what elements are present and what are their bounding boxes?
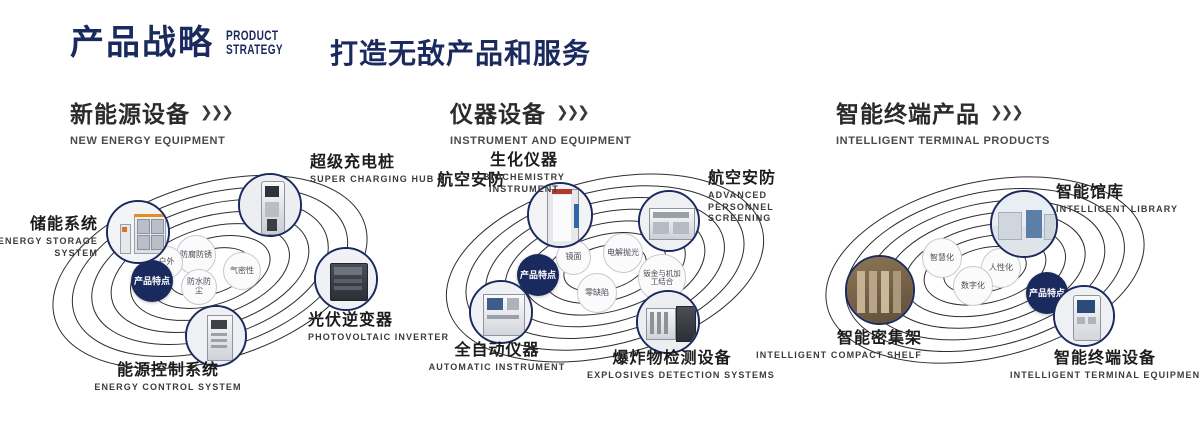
feature-bubble: 气密性 (223, 252, 261, 290)
diagram-group-instrument: 镜面 电解抛光 钣金与机加工结合 零缺陷 产品特点 航空安防 生化仪器 BIOC… (425, 150, 815, 410)
label-energy-control-system: 能源控制系统 ENERGY CONTROL SYSTEM (78, 362, 258, 394)
feature-bubble: 数字化 (953, 266, 993, 306)
label-energy-storage-system: 储能系统 ENERGY STORAGE SYSTEM (0, 216, 98, 259)
node-intelligent-library[interactable] (990, 190, 1058, 258)
label-advanced-personnel-screening: 航空安防 ADVANCED PERSONNEL SCREENING (708, 170, 818, 224)
page-title: 产品战略 PRODUCT STRATEGY (70, 26, 305, 60)
feature-bubble: 智慧化 (922, 238, 962, 278)
chevron-right-icon: ❯❯❯ (200, 105, 232, 120)
page-title-en: PRODUCT STRATEGY (226, 29, 283, 56)
feature-bubble: 电解抛光 (603, 233, 643, 273)
feature-bubble: 零缺陷 (577, 273, 617, 313)
node-intelligent-compact-shelf[interactable] (845, 255, 915, 325)
section-title-cn: 新能源设备 (70, 95, 190, 129)
node-explosives-detection-systems[interactable] (636, 290, 700, 354)
section-header-new-energy: 新能源设备 ❯❯❯ NEW ENERGY EQUIPMENT (70, 95, 232, 147)
chevron-right-icon: ❯❯❯ (990, 105, 1022, 120)
page-subtitle: 打造无敌产品和服务 (330, 32, 591, 72)
node-advanced-personnel-screening[interactable] (638, 190, 700, 252)
label-biochemistry-instrument: 生化仪器 BIOCHEMISTRY INSTRUMENT (449, 152, 599, 195)
label-intelligent-compact-shelf: 智能密集架 INTELLIGENT COMPACT SHELF (732, 330, 922, 362)
node-intelligent-terminal-equipment[interactable] (1053, 285, 1115, 347)
feature-bubble: 防水防尘 (181, 269, 217, 305)
node-energy-storage-system[interactable] (106, 200, 170, 264)
section-title-en: INTELLIGENT TERMINAL PRODUCTS (836, 135, 1050, 147)
diagram-group-intelligent-terminal: 智慧化 人性化 数字化 产品特点 智能馆库 INTELLIGENT LIBRAR… (810, 150, 1200, 410)
label-intelligent-terminal-equipment: 智能终端设备 INTELLIGENT TERMINAL EQUIPMENT (1010, 350, 1200, 382)
node-photovoltaic-inverter[interactable] (314, 247, 378, 311)
section-title-en: INSTRUMENT AND EQUIPMENT (450, 135, 631, 147)
diagram-group-new-energy: 防腐防锈 户外 气密性 防水防尘 产品特点 储能系统 ENERGY STORAG… (30, 150, 430, 410)
section-header-instrument: 仪器设备 ❯❯❯ INSTRUMENT AND EQUIPMENT (450, 95, 631, 147)
node-super-charging-hub[interactable] (238, 173, 302, 237)
center-badge-product-features: 产品特点 (131, 260, 173, 302)
node-automatic-instrument[interactable] (469, 280, 533, 344)
node-energy-control-system[interactable] (185, 305, 247, 367)
section-title-cn: 仪器设备 (450, 95, 546, 129)
page-title-cn: 产品战略 (70, 26, 214, 60)
label-automatic-instrument: 全自动仪器 AUTOMATIC INSTRUMENT (417, 342, 577, 374)
chevron-right-icon: ❯❯❯ (556, 105, 588, 120)
label-intelligent-library: 智能馆库 INTELLIGENT LIBRARY (1056, 184, 1178, 216)
section-header-intelligent-terminal: 智能终端产品 ❯❯❯ INTELLIGENT TERMINAL PRODUCTS (836, 95, 1050, 147)
section-title-cn: 智能终端产品 (836, 95, 980, 129)
section-title-en: NEW ENERGY EQUIPMENT (70, 135, 232, 147)
product-strategy-infographic: 产品战略 PRODUCT STRATEGY 打造无敌产品和服务 新能源设备 ❯❯… (0, 0, 1200, 422)
page-title-en-line2: STRATEGY (226, 43, 283, 57)
